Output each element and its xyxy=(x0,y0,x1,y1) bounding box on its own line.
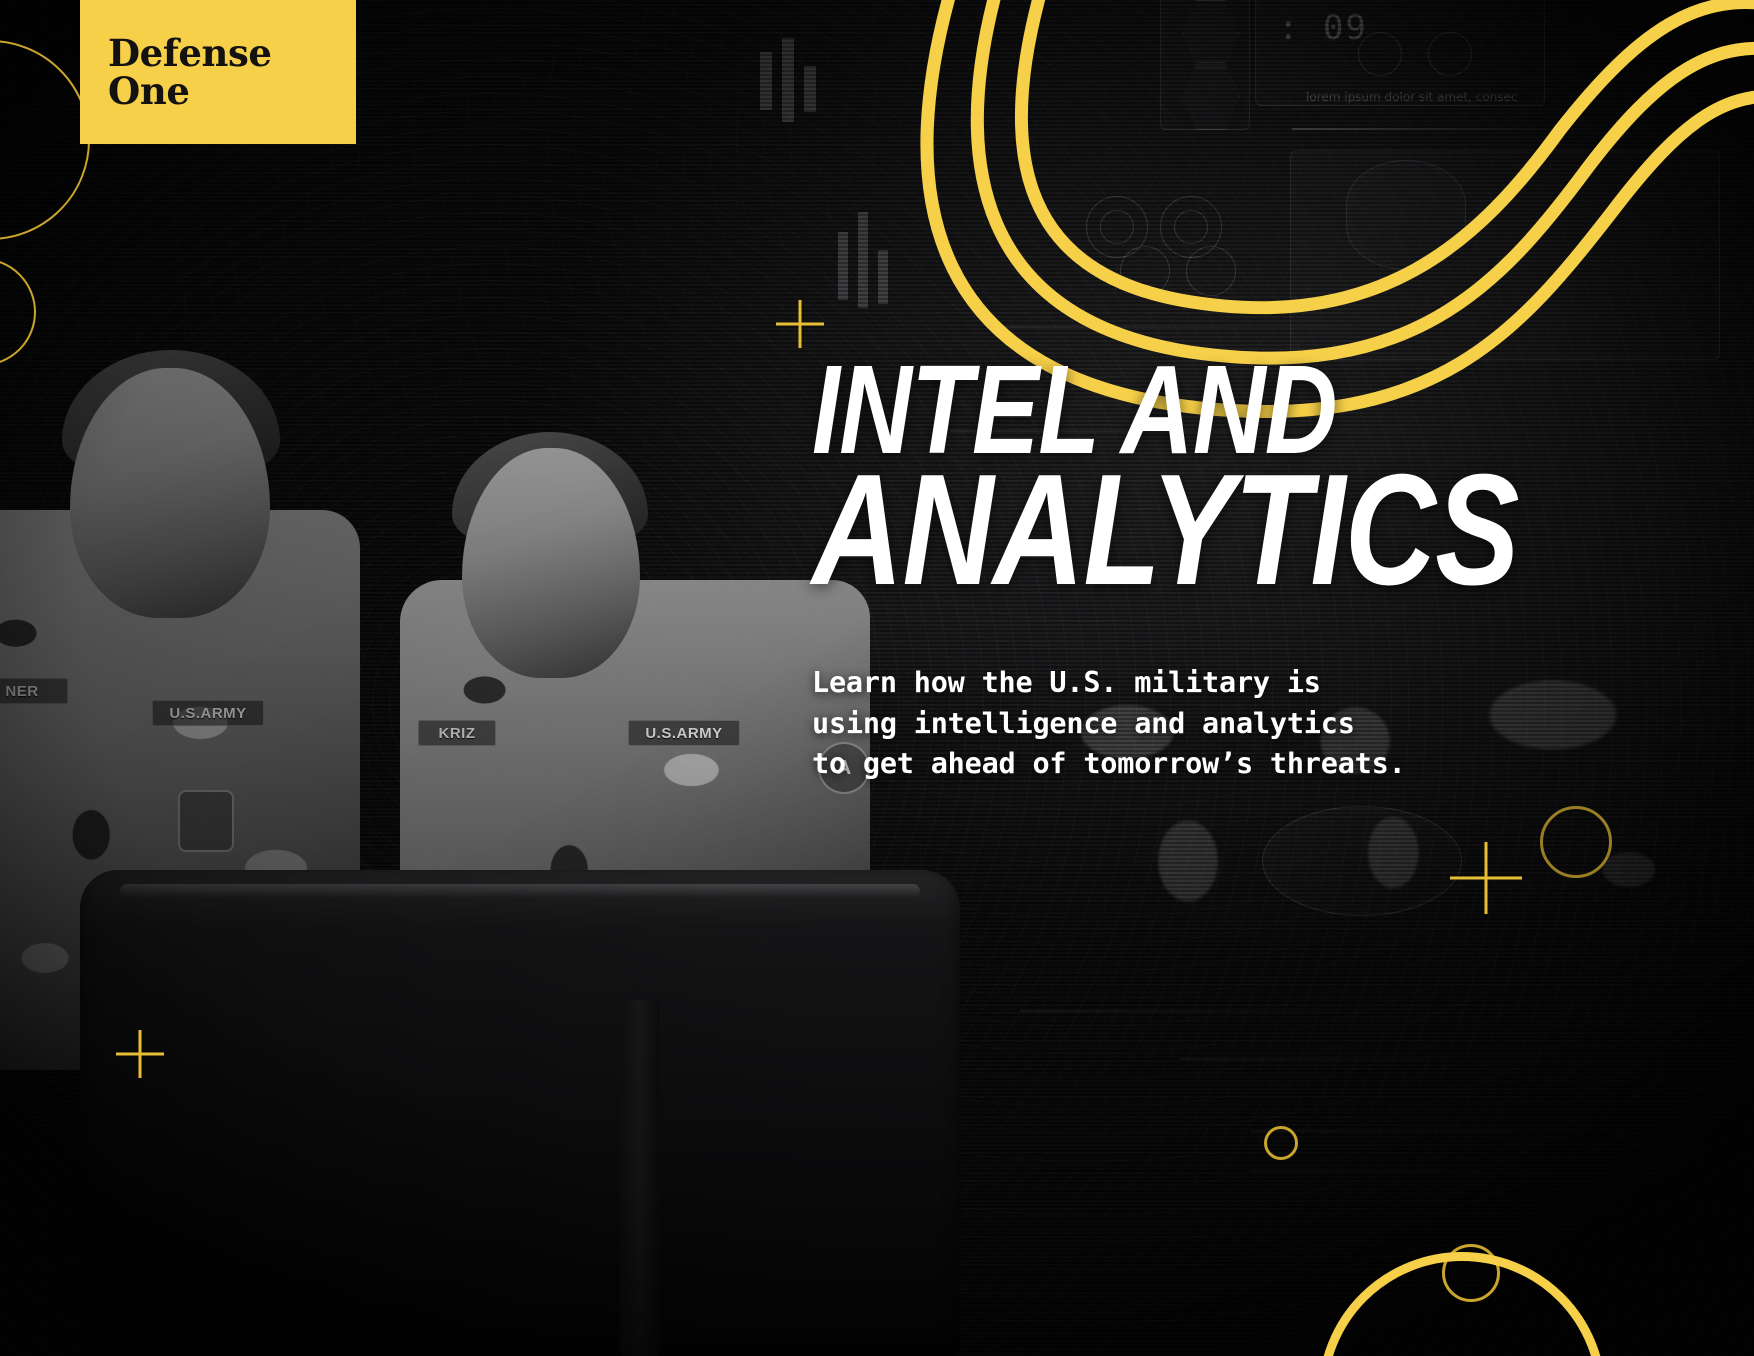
soldier-left-service-tape: U.S.ARMY xyxy=(152,700,264,726)
hud-line-6 xyxy=(1250,1130,1670,1132)
hud-timer-label: : 09 xyxy=(1278,8,1368,48)
hud-bar-6 xyxy=(804,66,816,112)
hud-dial-1-inner xyxy=(1100,210,1134,244)
hud-circle-icon-2 xyxy=(1428,32,1472,76)
hero-subheadline: Learn how the U.S. military is using int… xyxy=(812,663,1532,784)
decorative-circle-right xyxy=(1540,806,1612,878)
hero-banner: : 09 lorem ipsum dolor sit amet, consec … xyxy=(0,0,1754,1356)
hud-bar-3 xyxy=(878,250,888,304)
monitor-top-edge xyxy=(120,884,920,898)
hud-dial-2-inner xyxy=(1174,210,1208,244)
decorative-circle-bottom-2 xyxy=(1264,1126,1298,1160)
headline-line-2: ANALYTICS xyxy=(812,458,1388,603)
hud-line-5 xyxy=(1180,1058,1480,1060)
hud-circle-icon-1 xyxy=(1358,32,1402,76)
decorative-plus-bottom-left xyxy=(116,1030,164,1078)
hud-bar-1 xyxy=(838,232,848,300)
monitor-stand xyxy=(620,1000,660,1356)
hud-bar-2 xyxy=(858,212,868,308)
soldier-left-head xyxy=(70,368,270,618)
logo-line-2: One xyxy=(108,72,356,110)
hud-line-2 xyxy=(1000,326,1420,328)
hud-bar-5 xyxy=(782,38,794,122)
soldier-right-name-tape: KRIZ xyxy=(418,720,496,746)
logo-line-1: Defense xyxy=(108,34,356,72)
soldier-left-name-tape: NER xyxy=(0,678,68,704)
hud-line-7 xyxy=(1250,1170,1630,1172)
decorative-plus-right xyxy=(1450,842,1522,914)
defense-one-logo[interactable]: Defense One xyxy=(80,0,356,144)
soldier-right-service-tape: U.S.ARMY xyxy=(628,720,740,746)
hero-copy-block: INTEL AND ANALYTICS Learn how the U.S. m… xyxy=(812,352,1532,785)
hud-panel-coil xyxy=(1346,160,1466,270)
soldier-right-head xyxy=(462,448,640,678)
hud-bar-4 xyxy=(760,52,772,110)
soldier-left-unit-patch xyxy=(178,790,234,852)
computer-monitor xyxy=(80,870,960,1356)
hud-dial-4 xyxy=(1186,246,1236,296)
hud-line-1 xyxy=(1292,128,1592,130)
hud-line-4 xyxy=(1020,1010,1380,1012)
hud-dial-3 xyxy=(1120,246,1170,296)
hud-caption-text: lorem ipsum dolor sit amet, consec xyxy=(1306,90,1518,104)
